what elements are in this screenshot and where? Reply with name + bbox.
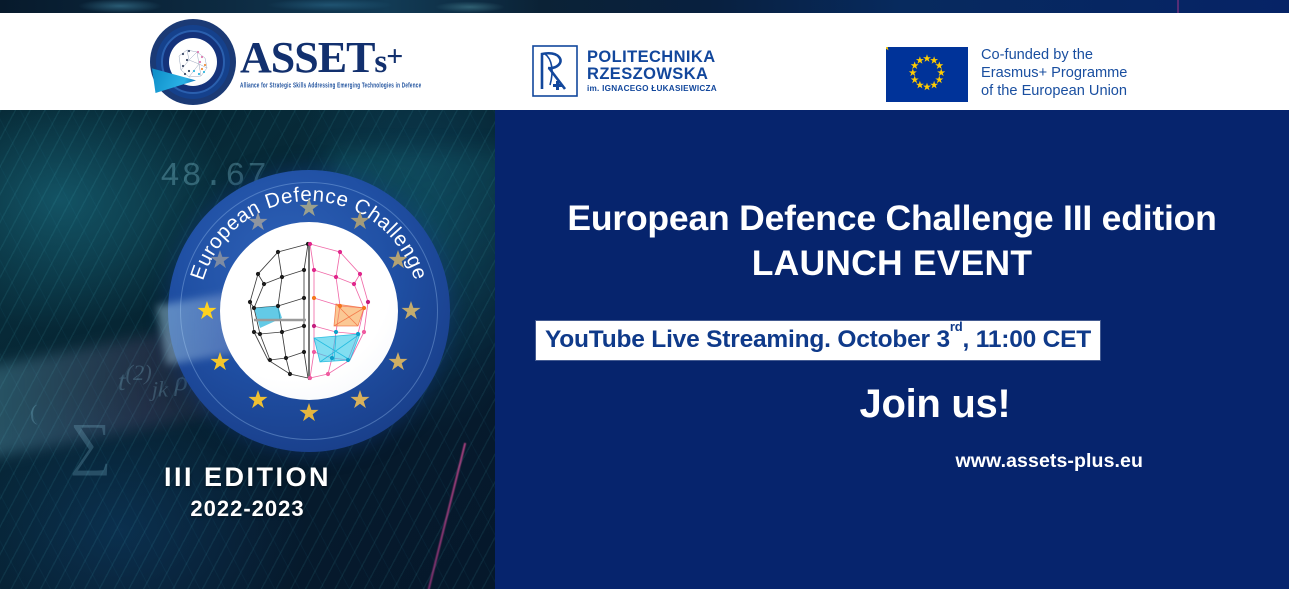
event-title: European Defence Challenge III edition L… xyxy=(495,196,1289,287)
logo-header: ASSETs+ Alliance for Strategic Skills Ad… xyxy=(0,13,1289,110)
prz-line3: im. IGNACEGO ŁUKASIEWICZA xyxy=(587,85,717,93)
eu-line3: of the European Union xyxy=(981,83,1127,101)
event-title-line1: European Defence Challenge III edition xyxy=(495,196,1289,241)
streaming-prefix: YouTube Live Streaming. October 3 xyxy=(545,327,950,354)
strip-texture xyxy=(0,0,1289,13)
assets-subtitle: Alliance for Strategic Skills Addressing… xyxy=(240,83,421,90)
eu-line1: Co-funded by the xyxy=(981,47,1127,65)
edc-badge: European Defence Challenge xyxy=(168,170,450,452)
tech-background-photo: 48.67 t(2)jk ρ ( ∑ ∑ European Defence Ch… xyxy=(0,110,495,589)
strip-accent-line xyxy=(1177,0,1179,13)
join-us-callout: Join us! xyxy=(495,382,1289,427)
eu-flag-icon xyxy=(886,47,968,102)
website-url[interactable]: www.assets-plus.eu xyxy=(956,450,1143,473)
streaming-info-text: YouTube Live Streaming. October 3rd, 11:… xyxy=(545,326,1091,354)
event-details-panel: European Defence Challenge III edition L… xyxy=(495,110,1289,589)
eu-cofunded-logo: Co-funded by the Erasmus+ Programme of t… xyxy=(886,47,1127,102)
top-decorative-strip xyxy=(0,0,1289,13)
prz-line2: RZESZOWSKA xyxy=(587,66,717,83)
prz-wordmark: POLITECHNIKA RZESZOWSKA im. IGNACEGO ŁUK… xyxy=(587,49,717,93)
brain-network-icon xyxy=(220,222,398,400)
badge-edition-caption: III EDITION 2022-2023 xyxy=(0,462,495,522)
prz-line1: POLITECHNIKA xyxy=(587,49,717,66)
assets-circular-mark-icon xyxy=(150,19,236,105)
streaming-suffix: , 11:00 CET xyxy=(963,327,1092,354)
main-body: 48.67 t(2)jk ρ ( ∑ ∑ European Defence Ch… xyxy=(0,110,1289,589)
assets-word-plus: + xyxy=(386,40,402,73)
streaming-info-box: YouTube Live Streaming. October 3rd, 11:… xyxy=(536,321,1100,360)
prz-emblem-icon xyxy=(532,45,578,97)
badge-core xyxy=(220,222,398,400)
assets-wordmark: ASSETs+ Alliance for Strategic Skills Ad… xyxy=(240,36,421,88)
background-formula-2: ( xyxy=(30,400,37,426)
assets-plus-logo: ASSETs+ Alliance for Strategic Skills Ad… xyxy=(150,19,421,105)
assets-word-main: ASSET xyxy=(240,33,374,82)
event-title-line2: LAUNCH EVENT xyxy=(495,241,1289,286)
edition-label: III EDITION xyxy=(0,462,495,493)
promo-banner: ASSETs+ Alliance for Strategic Skills Ad… xyxy=(0,0,1289,589)
eu-line2: Erasmus+ Programme xyxy=(981,65,1127,83)
streaming-ordinal-suffix: rd xyxy=(950,319,963,334)
eu-cofunded-text: Co-funded by the Erasmus+ Programme of t… xyxy=(981,47,1127,100)
assets-word-small: s xyxy=(374,44,386,80)
edition-years: 2022-2023 xyxy=(0,496,495,522)
join-us-text: Join us! xyxy=(860,382,1011,426)
politechnika-rzeszowska-logo: POLITECHNIKA RZESZOWSKA im. IGNACEGO ŁUK… xyxy=(532,45,717,97)
